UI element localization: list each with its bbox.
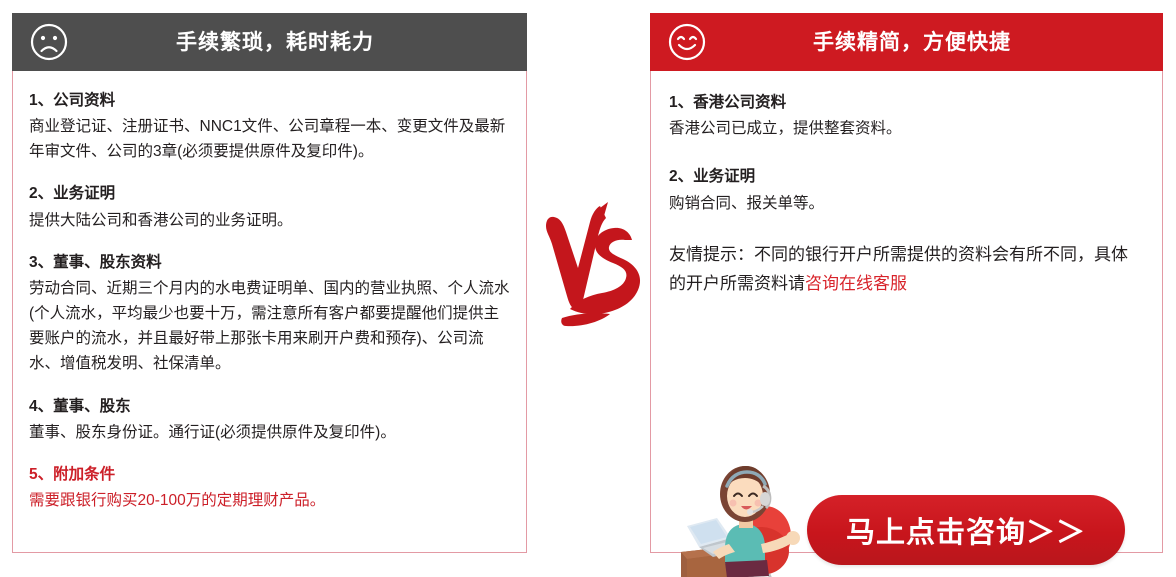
comparison-infographic: 1、公司资料 商业登记证、注册证书、NNC1文件、公司章程一本、变更文件及最新年…	[0, 0, 1176, 577]
right-panel-title: 手续精简，方便快捷	[707, 32, 1163, 53]
friendly-notice: 友情提示：不同的银行开户所需提供的资料会有所不同，具体的开户所需资料请咨询在线客…	[669, 240, 1144, 298]
section-title: 5、附加条件	[29, 463, 510, 486]
list-item: 2、业务证明 提供大陆公司和香港公司的业务证明。	[29, 182, 510, 232]
section-title: 4、董事、股东	[29, 395, 510, 418]
section-text: 劳动合同、近期三个月内的水电费证明单、国内的营业执照、个人流水(个人流水，平均最…	[29, 276, 510, 376]
left-panel-title: 手续繁琐，耗时耗力	[69, 32, 527, 53]
list-item: 2、业务证明 购销合同、报关单等。	[669, 165, 1144, 215]
section-title: 2、业务证明	[29, 182, 510, 205]
cta-row: 马上点击咨询＞＞	[651, 453, 1162, 577]
section-title: 1、公司资料	[29, 89, 510, 112]
section-text: 董事、股东身份证。通行证(必须提供原件及复印件)。	[29, 420, 510, 445]
list-item: 1、公司资料 商业登记证、注册证书、NNC1文件、公司章程一本、变更文件及最新年…	[29, 89, 510, 164]
section-text: 香港公司已成立，提供整套资料。	[669, 116, 1144, 141]
section-title: 2、业务证明	[669, 165, 1144, 188]
customer-service-agent-icon	[673, 456, 813, 577]
right-panel-body: 1、香港公司资料 香港公司已成立，提供整套资料。 2、业务证明 购销合同、报关单…	[650, 71, 1163, 553]
left-panel-drawbacks: 1、公司资料 商业登记证、注册证书、NNC1文件、公司章程一本、变更文件及最新年…	[12, 13, 527, 553]
list-item: 3、董事、股东资料 劳动合同、近期三个月内的水电费证明单、国内的营业执照、个人流…	[29, 251, 510, 377]
vs-brush-icon	[540, 196, 644, 346]
list-item: 1、香港公司资料 香港公司已成立，提供整套资料。	[669, 91, 1144, 141]
sad-face-icon	[29, 22, 69, 62]
list-item-extra-condition: 5、附加条件 需要跟银行购买20-100万的定期理财产品。	[29, 463, 510, 513]
section-text: 需要跟银行购买20-100万的定期理财产品。	[29, 488, 510, 513]
section-text: 购销合同、报关单等。	[669, 191, 1144, 216]
section-title: 3、董事、股东资料	[29, 251, 510, 274]
section-text: 提供大陆公司和香港公司的业务证明。	[29, 208, 510, 233]
left-panel-header: 手续繁琐，耗时耗力	[12, 13, 527, 71]
list-item: 4、董事、股东 董事、股东身份证。通行证(必须提供原件及复印件)。	[29, 395, 510, 445]
section-text: 商业登记证、注册证书、NNC1文件、公司章程一本、变更文件及最新年审文件、公司的…	[29, 114, 510, 164]
online-support-link[interactable]: 咨询在线客服	[805, 274, 907, 293]
left-panel-body: 1、公司资料 商业登记证、注册证书、NNC1文件、公司章程一本、变更文件及最新年…	[12, 71, 527, 553]
vs-badge	[540, 196, 644, 346]
happy-face-icon	[667, 22, 707, 62]
consult-now-button[interactable]: 马上点击咨询＞＞	[807, 495, 1125, 565]
section-title: 1、香港公司资料	[669, 91, 1144, 114]
left-panel-content: 1、公司资料 商业登记证、注册证书、NNC1文件、公司章程一本、变更文件及最新年…	[13, 71, 526, 523]
right-panel-content: 1、香港公司资料 香港公司已成立，提供整套资料。 2、业务证明 购销合同、报关单…	[651, 71, 1162, 308]
right-panel-header: 手续精简，方便快捷	[650, 13, 1163, 71]
right-panel-benefits: 1、香港公司资料 香港公司已成立，提供整套资料。 2、业务证明 购销合同、报关单…	[650, 13, 1163, 553]
